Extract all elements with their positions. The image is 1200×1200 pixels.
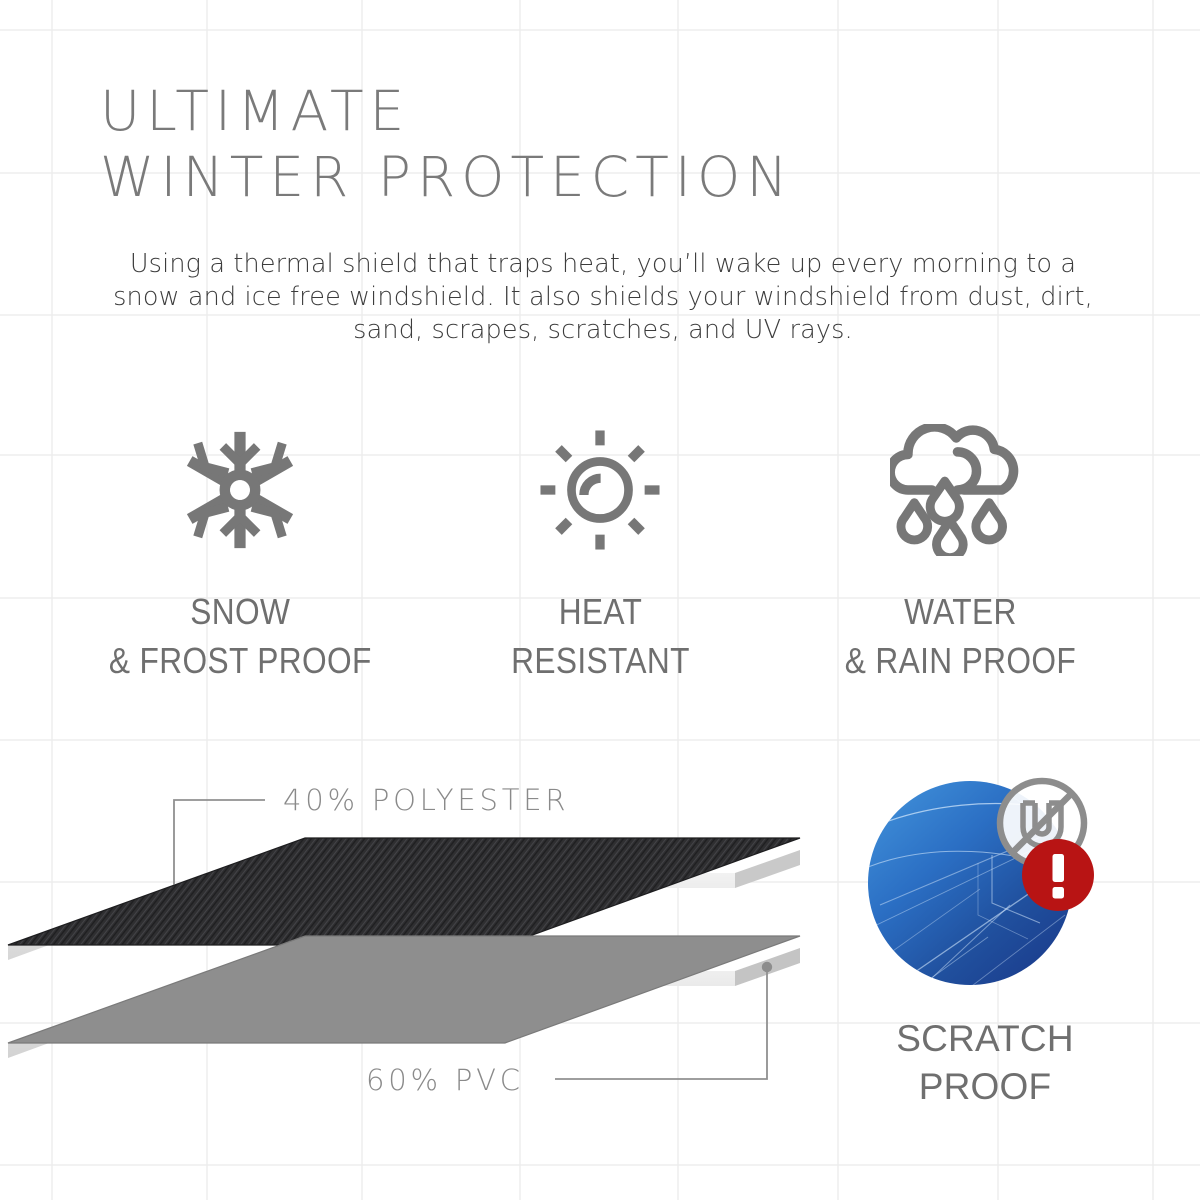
top-layer-face <box>8 838 800 945</box>
feature-label-snow-frost-proof: SNOW & FROST PROOF <box>109 587 372 685</box>
feature-label-line-2: & RAIN PROOF <box>844 636 1075 685</box>
feature-label-line-2: RESISTANT <box>511 636 690 685</box>
scratch-label-line-1: SCRATCH <box>855 1015 1115 1063</box>
feature-label-heat-resistant: HEAT RESISTANT <box>511 587 690 685</box>
feature-label-line-1: SNOW <box>109 587 372 636</box>
bottom-layer-face <box>8 936 800 1043</box>
callout-polyester: 40% POLYESTER <box>283 783 569 817</box>
feature-label-water-rain-proof: WATER & RAIN PROOF <box>844 587 1075 685</box>
title-line-1: ULTIMATE <box>100 78 1120 144</box>
feature-heat-resistant: HEAT RESISTANT <box>420 415 780 685</box>
intro-paragraph: Using a thermal shield that traps heat, … <box>108 248 1098 347</box>
feature-snow-frost-proof: SNOW & FROST PROOF <box>60 415 420 685</box>
page-title: ULTIMATE WINTER PROTECTION <box>100 78 1120 210</box>
scratch-proof-label: SCRATCH PROOF <box>855 1015 1115 1111</box>
scratch-proof-block: SCRATCH PROOF <box>855 755 1115 1111</box>
exclamation-icon <box>1022 839 1094 911</box>
feature-water-rain-proof: WATER & RAIN PROOF <box>780 415 1140 685</box>
feature-label-line-1: WATER <box>844 587 1075 636</box>
callout-pvc: 60% PVC <box>366 1063 524 1097</box>
scratch-label-line-2: PROOF <box>855 1063 1115 1111</box>
scratch-proof-illustration <box>860 755 1110 1005</box>
feature-list: SNOW & FROST PROOF <box>60 415 1140 685</box>
feature-label-line-1: HEAT <box>511 587 690 636</box>
snowflake-icon <box>174 415 306 565</box>
feature-label-line-2: & FROST PROOF <box>109 636 372 685</box>
leader-dot-pvc <box>762 962 772 972</box>
title-line-2: WINTER PROTECTION <box>100 144 1120 210</box>
rain-cloud-icon <box>890 415 1030 565</box>
sun-icon <box>538 415 662 565</box>
